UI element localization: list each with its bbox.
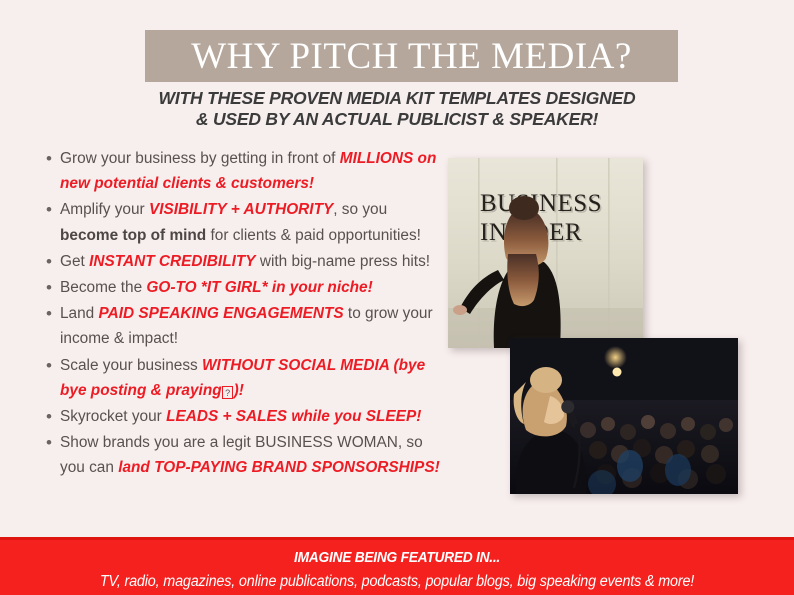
list-item-text: Scale your business WITHOUT SOCIAL MEDIA… bbox=[60, 353, 444, 403]
photo-speaker-crowd bbox=[510, 338, 738, 494]
subtitle-line-1: WITH THESE PROVEN MEDIA KIT TEMPLATES DE… bbox=[0, 88, 794, 109]
text-run: Skyrocket your bbox=[60, 408, 166, 425]
list-item-text: Become the GO-TO *IT GIRL* in your niche… bbox=[60, 275, 444, 300]
list-item-text: Land PAID SPEAKING ENGAGEMENTS to grow y… bbox=[60, 301, 444, 351]
list-item: •Show brands you are a legit BUSINESS WO… bbox=[44, 430, 444, 480]
list-item: •Become the GO-TO *IT GIRL* in your nich… bbox=[44, 275, 444, 300]
text-run: VISIBILITY + AUTHORITY bbox=[149, 201, 333, 218]
benefits-list: •Grow your business by getting in front … bbox=[44, 146, 444, 482]
speaker-crowd-photo-art bbox=[510, 338, 738, 494]
list-item-text: Grow your business by getting in front o… bbox=[60, 146, 444, 196]
text-run: for clients & paid opportunities! bbox=[206, 227, 421, 244]
list-item: •Amplify your VISIBILITY + AUTHORITY, so… bbox=[44, 197, 444, 247]
subtitle-line-2: & USED BY AN ACTUAL PUBLICIST & SPEAKER! bbox=[0, 109, 794, 130]
bullet-dot-icon: • bbox=[44, 275, 60, 300]
title-band: WHY PITCH THE MEDIA? bbox=[145, 30, 678, 82]
footer-banner: IMAGINE BEING FEATURED IN... TV, radio, … bbox=[0, 537, 794, 595]
subtitle: WITH THESE PROVEN MEDIA KIT TEMPLATES DE… bbox=[0, 88, 794, 130]
text-run: become top of mind bbox=[60, 227, 206, 244]
list-item-text: Show brands you are a legit BUSINESS WOM… bbox=[60, 430, 444, 480]
bullet-dot-icon: • bbox=[44, 301, 60, 326]
list-item-text: Amplify your VISIBILITY + AUTHORITY, so … bbox=[60, 197, 444, 247]
bullet-dot-icon: • bbox=[44, 353, 60, 378]
bullet-dot-icon: • bbox=[44, 197, 60, 222]
business-insider-photo-art: BUSINESS INSIDER BUSINESS INSIDER bbox=[448, 158, 643, 348]
text-run: , so you bbox=[333, 201, 387, 218]
text-run: INSTANT CREDIBILITY bbox=[89, 253, 255, 270]
list-item-text: Skyrocket your LEADS + SALES while you S… bbox=[60, 404, 444, 429]
bullet-dot-icon: • bbox=[44, 404, 60, 429]
svg-text:BUSINESS: BUSINESS bbox=[482, 192, 604, 219]
text-run: Amplify your bbox=[60, 201, 149, 218]
list-item: •Grow your business by getting in front … bbox=[44, 146, 444, 196]
text-run: GO-TO *IT GIRL* in your niche! bbox=[146, 279, 372, 296]
text-run: Become the bbox=[60, 279, 146, 296]
footer-subline: TV, radio, magazines, online publication… bbox=[28, 573, 766, 591]
list-item: •Skyrocket your LEADS + SALES while you … bbox=[44, 404, 444, 429]
text-run: with big-name press hits! bbox=[256, 253, 431, 270]
text-run: Grow your business by getting in front o… bbox=[60, 150, 340, 167]
photo-business-insider: BUSINESS INSIDER BUSINESS INSIDER bbox=[448, 158, 643, 348]
text-run: Scale your business bbox=[60, 357, 202, 374]
bullet-dot-icon: • bbox=[44, 249, 60, 274]
text-run: Land bbox=[60, 305, 99, 322]
footer-headline: IMAGINE BEING FEATURED IN... bbox=[32, 549, 762, 566]
missing-emoji-glyph: ? bbox=[222, 386, 233, 399]
text-run: LEADS + SALES while you SLEEP! bbox=[166, 408, 421, 425]
list-item: •Scale your business WITHOUT SOCIAL MEDI… bbox=[44, 353, 444, 403]
list-item-text: Get INSTANT CREDIBILITY with big-name pr… bbox=[60, 249, 444, 274]
text-run: land TOP-PAYING BRAND SPONSORSHIPS! bbox=[118, 459, 440, 476]
text-run: PAID SPEAKING ENGAGEMENTS bbox=[99, 305, 344, 322]
bullet-dot-icon: • bbox=[44, 430, 60, 455]
text-run: )! bbox=[234, 382, 244, 399]
text-run: Get bbox=[60, 253, 89, 270]
list-item: •Land PAID SPEAKING ENGAGEMENTS to grow … bbox=[44, 301, 444, 351]
page-title: WHY PITCH THE MEDIA? bbox=[191, 38, 632, 75]
list-item: •Get INSTANT CREDIBILITY with big-name p… bbox=[44, 249, 444, 274]
bullet-dot-icon: • bbox=[44, 146, 60, 171]
